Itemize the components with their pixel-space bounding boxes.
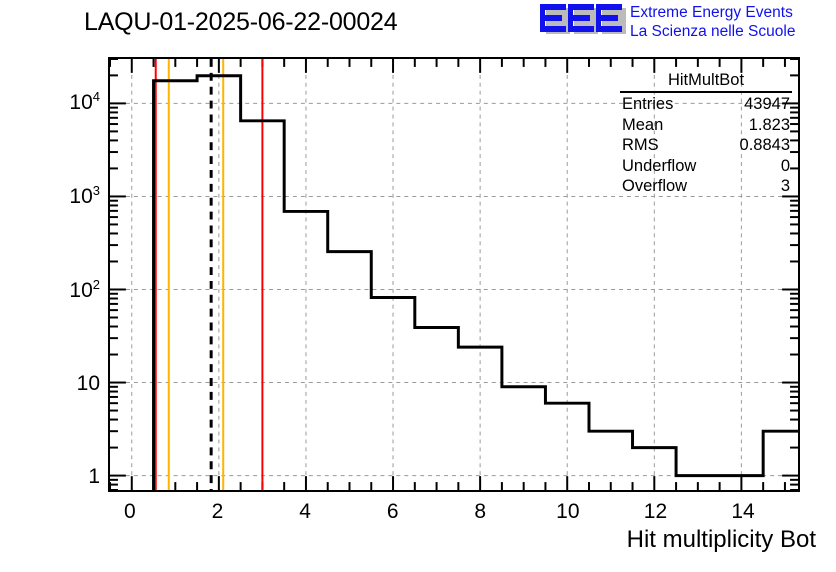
stats-row-key: Underflow bbox=[622, 156, 696, 177]
eee-logo-text: Extreme Energy Events La Scienza nelle S… bbox=[630, 3, 836, 41]
x-axis-title: Hit multiplicity Bot bbox=[627, 526, 816, 554]
logo-line-1: Extreme Energy Events bbox=[630, 3, 836, 22]
stats-row-value: 1.823 bbox=[749, 115, 790, 136]
x-tick-label: 8 bbox=[474, 500, 486, 524]
x-tick-label: 6 bbox=[387, 500, 399, 524]
stats-row-key: Overflow bbox=[622, 176, 687, 197]
x-tick-label: 2 bbox=[212, 500, 224, 524]
stats-row-value: 0.8843 bbox=[740, 135, 790, 156]
marker-lines bbox=[156, 59, 263, 490]
stats-row-key: Entries bbox=[622, 94, 673, 115]
stats-row-key: RMS bbox=[622, 135, 659, 156]
y-tick-label: 10 bbox=[28, 372, 100, 396]
x-tick-label: 12 bbox=[644, 500, 667, 524]
histogram-canvas: LAQU-01-2025-06-22-00024 Extreme Energy … bbox=[0, 0, 836, 572]
x-tick-label: 4 bbox=[299, 500, 311, 524]
y-tick-label: 102 bbox=[28, 277, 100, 303]
stats-row: Underflow0 bbox=[612, 156, 800, 177]
stats-box: HitMultBot Entries43947Mean1.823RMS0.884… bbox=[612, 70, 800, 194]
stats-row-value: 3 bbox=[781, 176, 790, 197]
stats-row: RMS0.8843 bbox=[612, 135, 800, 156]
x-tick-label: 0 bbox=[124, 500, 136, 524]
y-tick-label: 1 bbox=[28, 465, 100, 489]
stats-row: Overflow3 bbox=[612, 176, 800, 197]
stats-row-key: Mean bbox=[622, 115, 663, 136]
eee-logo-mark bbox=[540, 4, 626, 38]
stats-box-rows: Entries43947Mean1.823RMS0.8843Underflow0… bbox=[612, 94, 800, 197]
x-tick-label: 14 bbox=[731, 500, 754, 524]
stats-box-title: HitMultBot bbox=[620, 70, 792, 93]
stats-row-value: 0 bbox=[781, 156, 790, 177]
page-title: LAQU-01-2025-06-22-00024 bbox=[84, 8, 397, 37]
stats-row: Entries43947 bbox=[612, 94, 800, 115]
stats-row: Mean1.823 bbox=[612, 115, 800, 136]
eee-logo-letters bbox=[540, 4, 622, 32]
x-tick-label: 10 bbox=[556, 500, 579, 524]
y-tick-label: 104 bbox=[28, 89, 100, 115]
eee-logo: Extreme Energy Events La Scienza nelle S… bbox=[540, 2, 836, 44]
y-tick-label: 103 bbox=[28, 183, 100, 209]
logo-line-2: La Scienza nelle Scuole bbox=[630, 22, 836, 41]
stats-row-value: 43947 bbox=[744, 94, 790, 115]
